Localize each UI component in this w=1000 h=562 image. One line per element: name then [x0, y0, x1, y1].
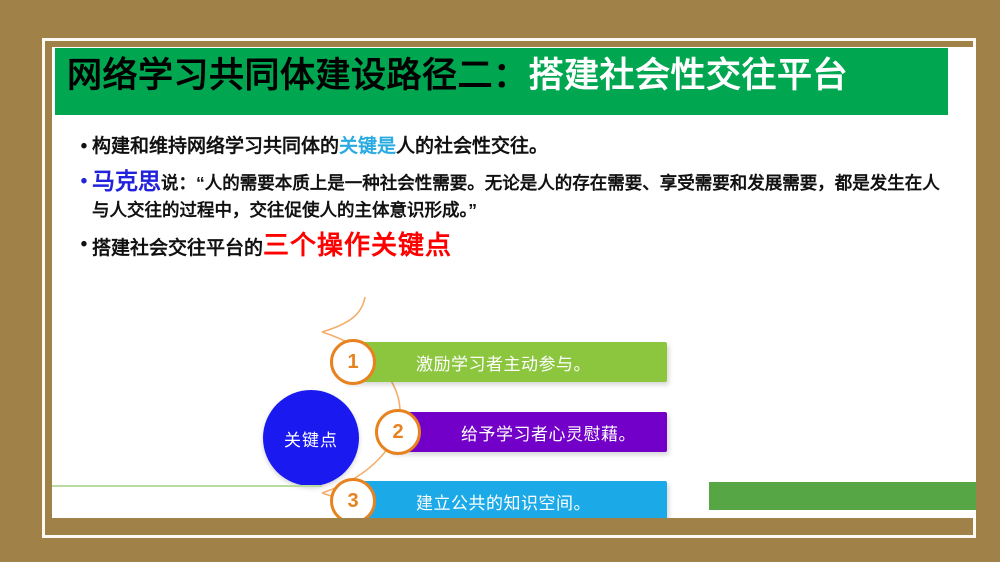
key-point-number-text-2: 2 [392, 421, 403, 444]
key-point-number-1[interactable]: 1 [330, 339, 376, 385]
title-part-white: 搭建社会性交往平台 [529, 56, 849, 95]
page-title: 网络学习共同体建设路径二：搭建社会性交往平台 [67, 51, 947, 101]
key-point-number-text-3: 3 [347, 490, 358, 513]
bullet-item-2: • 马克思说：“人的需要本质上是一种社会性需要。无论是人的存在需要、享受需要和发… [76, 168, 956, 224]
title-banner: 网络学习共同体建设路径二：搭建社会性交往平台 [55, 48, 948, 115]
key-point-number-text-1: 1 [347, 351, 358, 374]
bullet-3-segment-plain: 搭建社会交往平台的 [92, 238, 263, 259]
bullet-3-segment-highlight: 三个操作关键点 [263, 230, 452, 260]
footer-divider-line [52, 485, 322, 487]
key-points-diagram: 激励学习者主动参与。 给予学习者心灵慰藉。 建立公共的知识空间。 关键点 1 2… [52, 287, 976, 487]
key-point-number-3[interactable]: 3 [330, 478, 376, 518]
bullet-item-3: • 搭建社会交往平台的三个操作关键点 [76, 230, 956, 264]
bullet-text-3: 搭建社会交往平台的三个操作关键点 [92, 230, 956, 264]
bullet-text-2: 马克思说：“人的需要本质上是一种社会性需要。无论是人的存在需要、享受需要和发展需… [92, 168, 956, 224]
key-point-label-1: 激励学习者主动参与。 [416, 350, 591, 375]
bullet-list: • 构建和维持网络学习共同体的关键是人的社会性交往。 • 马克思说：“人的需要本… [76, 132, 956, 270]
key-point-label-2: 给予学习者心灵慰藉。 [461, 420, 636, 445]
key-point-label-3: 建立公共的知识空间。 [416, 489, 591, 514]
slide-content-canvas: 网络学习共同体建设路径二：搭建社会性交往平台 • 构建和维持网络学习共同体的关键… [52, 47, 976, 518]
bullet-2-segment-quote: 说：“人的需要本质上是一种社会性需要。无论是人的存在需要、享受需要和发展需要，都… [92, 173, 940, 220]
bullet-marker-3: • [76, 230, 92, 260]
diagram-hub-circle[interactable]: 关键点 [263, 390, 359, 486]
key-point-bar-3[interactable]: 建立公共的知识空间。 [344, 481, 667, 518]
footer-green-block [709, 482, 976, 510]
diagram-hub-label: 关键点 [284, 426, 338, 451]
bullet-1-segment-highlight: 关键是 [339, 136, 396, 157]
bullet-1-segment-plain-a: 构建和维持网络学习共同体的 [92, 136, 339, 157]
bullet-marker-1: • [76, 132, 92, 162]
bullet-2-segment-name: 马克思 [92, 168, 161, 194]
key-point-bar-2[interactable]: 给予学习者心灵慰藉。 [389, 412, 667, 452]
bullet-item-1: • 构建和维持网络学习共同体的关键是人的社会性交往。 [76, 132, 956, 162]
title-part-black: 网络学习共同体建设路径二： [67, 56, 529, 95]
slide-root: 网络学习共同体建设路径二：搭建社会性交往平台 • 构建和维持网络学习共同体的关键… [0, 0, 1000, 562]
key-point-bar-1[interactable]: 激励学习者主动参与。 [344, 342, 667, 382]
bullet-marker-2: • [76, 168, 92, 195]
key-point-number-2[interactable]: 2 [375, 409, 421, 455]
bullet-text-1: 构建和维持网络学习共同体的关键是人的社会性交往。 [92, 132, 956, 162]
bullet-1-segment-plain-b: 人的社会性交往。 [396, 136, 548, 157]
